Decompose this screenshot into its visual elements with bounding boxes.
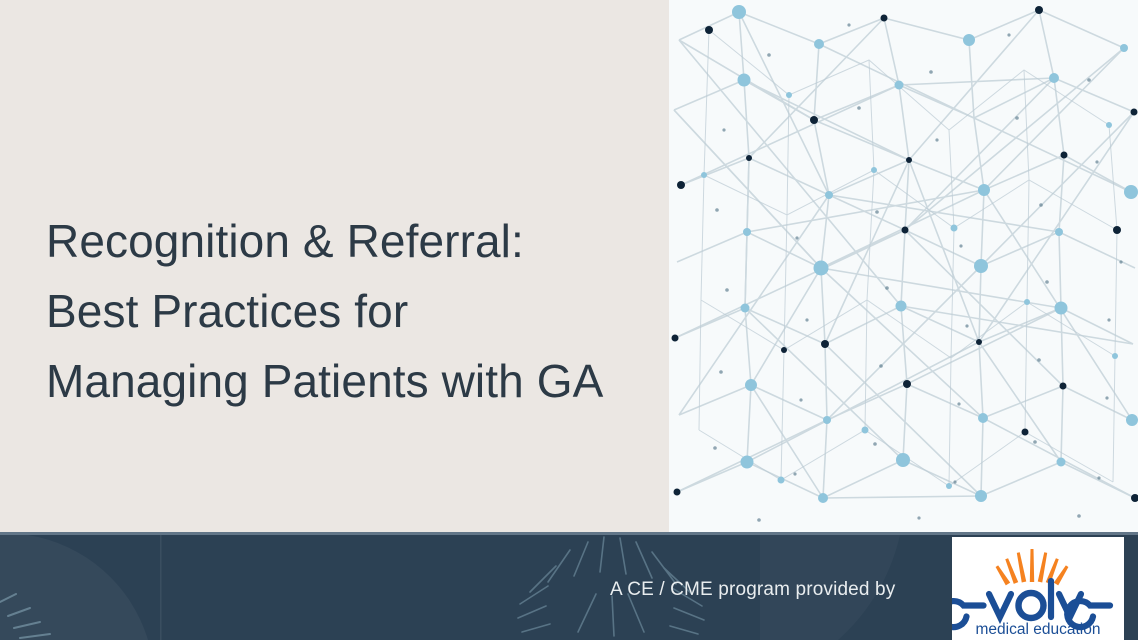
credit-text: A CE / CME program provided by (610, 579, 895, 601)
slide-title: Recognition & Referral: Best Practices f… (46, 206, 646, 416)
title-slide: Recognition & Referral: Best Practices f… (0, 0, 1138, 640)
footer-top-divider (0, 532, 1138, 535)
evolve-logo[interactable]: medical education (952, 537, 1124, 640)
title-line-2: Best Practices for (46, 276, 646, 346)
network-pattern-icon (669, 0, 1138, 532)
title-line-1: Recognition & Referral: (46, 206, 646, 276)
title-line-3: Managing Patients with GA (46, 346, 646, 416)
network-graphic-panel (669, 0, 1138, 532)
logo-tagline: medical education (976, 621, 1101, 638)
